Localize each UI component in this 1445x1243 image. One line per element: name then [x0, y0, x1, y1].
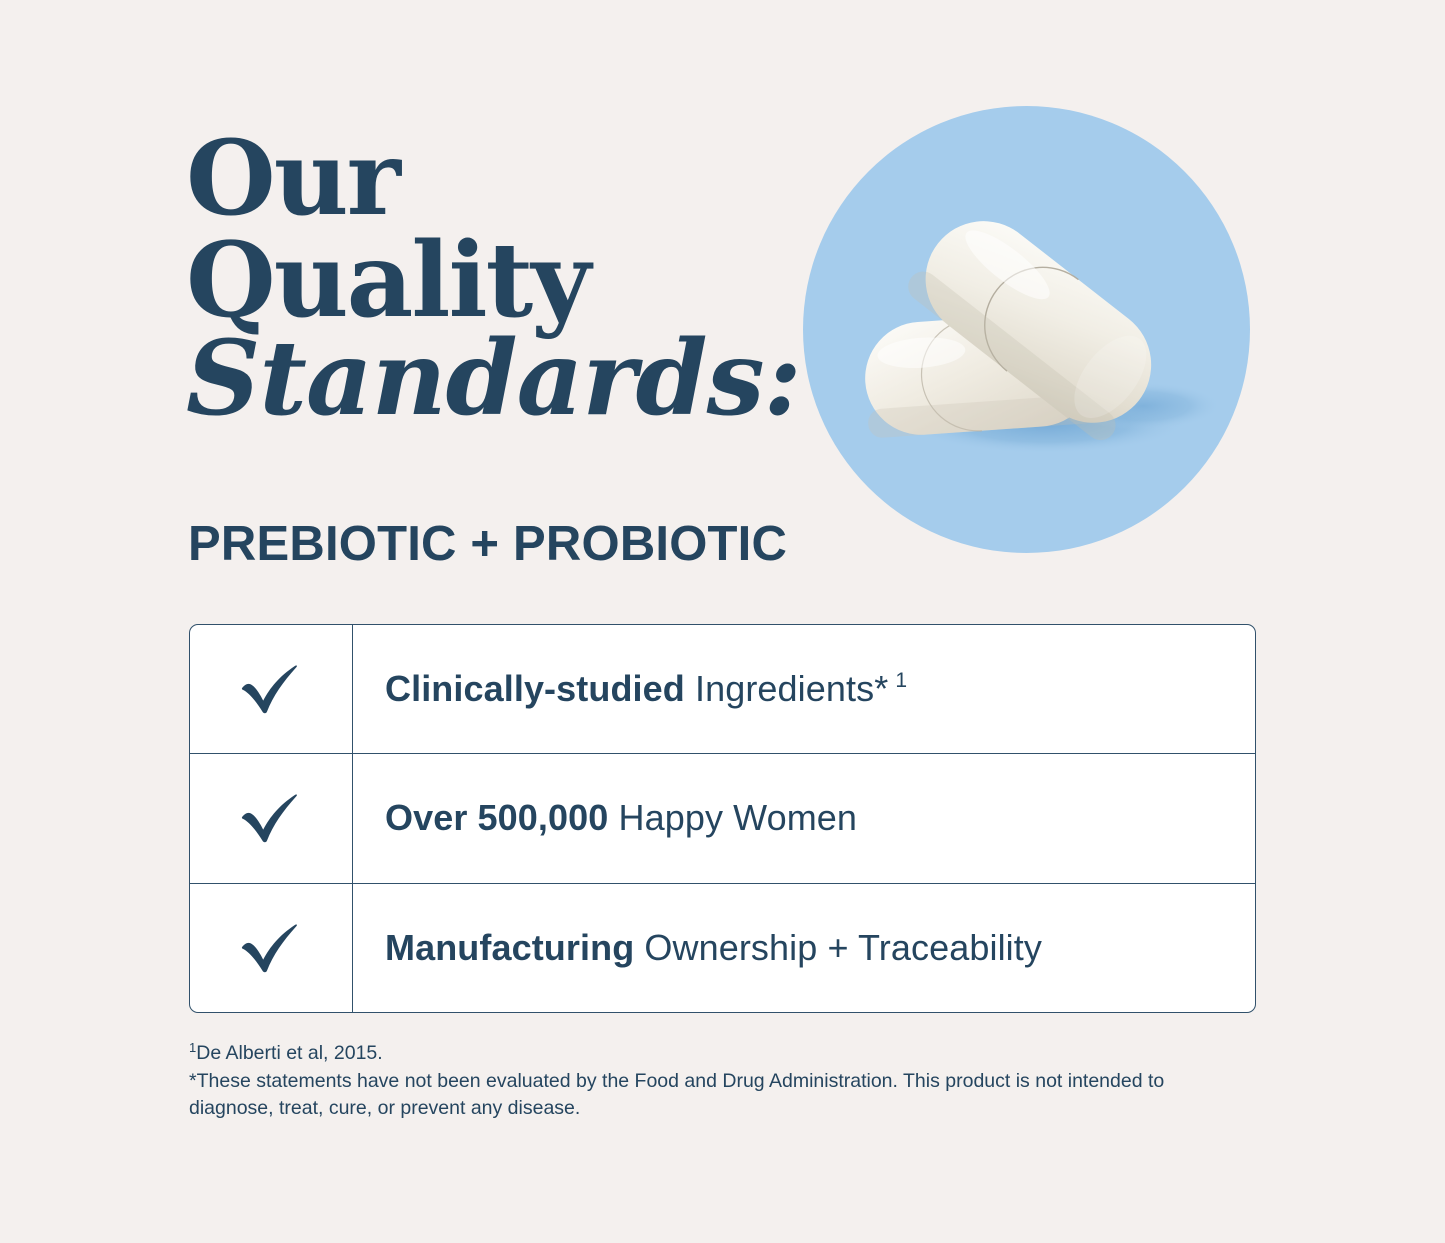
- page-title: Our Quality Standards:: [186, 128, 806, 430]
- row-label-bold: Over 500,000: [385, 797, 608, 838]
- check-cell: [190, 625, 353, 753]
- footnote-disclaimer-line-2: diagnose, treat, cure, or prevent any di…: [189, 1095, 1209, 1123]
- footnote-reference-text: De Alberti et al, 2015.: [196, 1042, 382, 1064]
- capsule-illustration: [803, 106, 1250, 553]
- check-cell: [190, 884, 353, 1012]
- row-label-superscript: 1: [895, 669, 907, 692]
- checkmark-icon: [238, 661, 304, 717]
- text-cell: Over 500,000 Happy Women: [353, 754, 1255, 882]
- footnote-reference: 1De Alberti et al, 2015.: [189, 1039, 1209, 1068]
- row-label-regular: Happy Women: [619, 797, 858, 838]
- table-row: Manufacturing Ownership + Traceability: [190, 884, 1255, 1012]
- row-label-bold: Clinically-studied: [385, 668, 685, 709]
- check-cell: [190, 754, 353, 882]
- row-label-regular: Ingredients*: [695, 668, 888, 709]
- table-row: Clinically-studied Ingredients*1: [190, 625, 1255, 754]
- row-label: Clinically-studied Ingredients*1: [385, 668, 907, 710]
- row-label-bold: Manufacturing: [385, 927, 634, 968]
- table-row: Over 500,000 Happy Women: [190, 754, 1255, 883]
- page-title-line-1: Our Quality: [186, 128, 806, 332]
- text-cell: Manufacturing Ownership + Traceability: [353, 884, 1255, 1012]
- page-title-line-2: Standards:: [186, 328, 806, 430]
- footnote-disclaimer-line-1: *These statements have not been evaluate…: [189, 1068, 1209, 1096]
- text-cell: Clinically-studied Ingredients*1: [353, 625, 1255, 753]
- standards-table: Clinically-studied Ingredients*1 Over 50…: [189, 624, 1256, 1013]
- row-label-regular: Ownership + Traceability: [644, 927, 1042, 968]
- checkmark-icon: [238, 920, 304, 976]
- product-image-circle: [803, 106, 1250, 553]
- footnotes: 1De Alberti et al, 2015. *These statemen…: [189, 1039, 1209, 1123]
- row-label: Manufacturing Ownership + Traceability: [385, 927, 1042, 969]
- section-subtitle: PREBIOTIC + PROBIOTIC: [188, 516, 787, 572]
- checkmark-icon: [238, 790, 304, 846]
- row-label: Over 500,000 Happy Women: [385, 797, 857, 839]
- quality-standards-page: Our Quality Standards:: [0, 0, 1445, 1243]
